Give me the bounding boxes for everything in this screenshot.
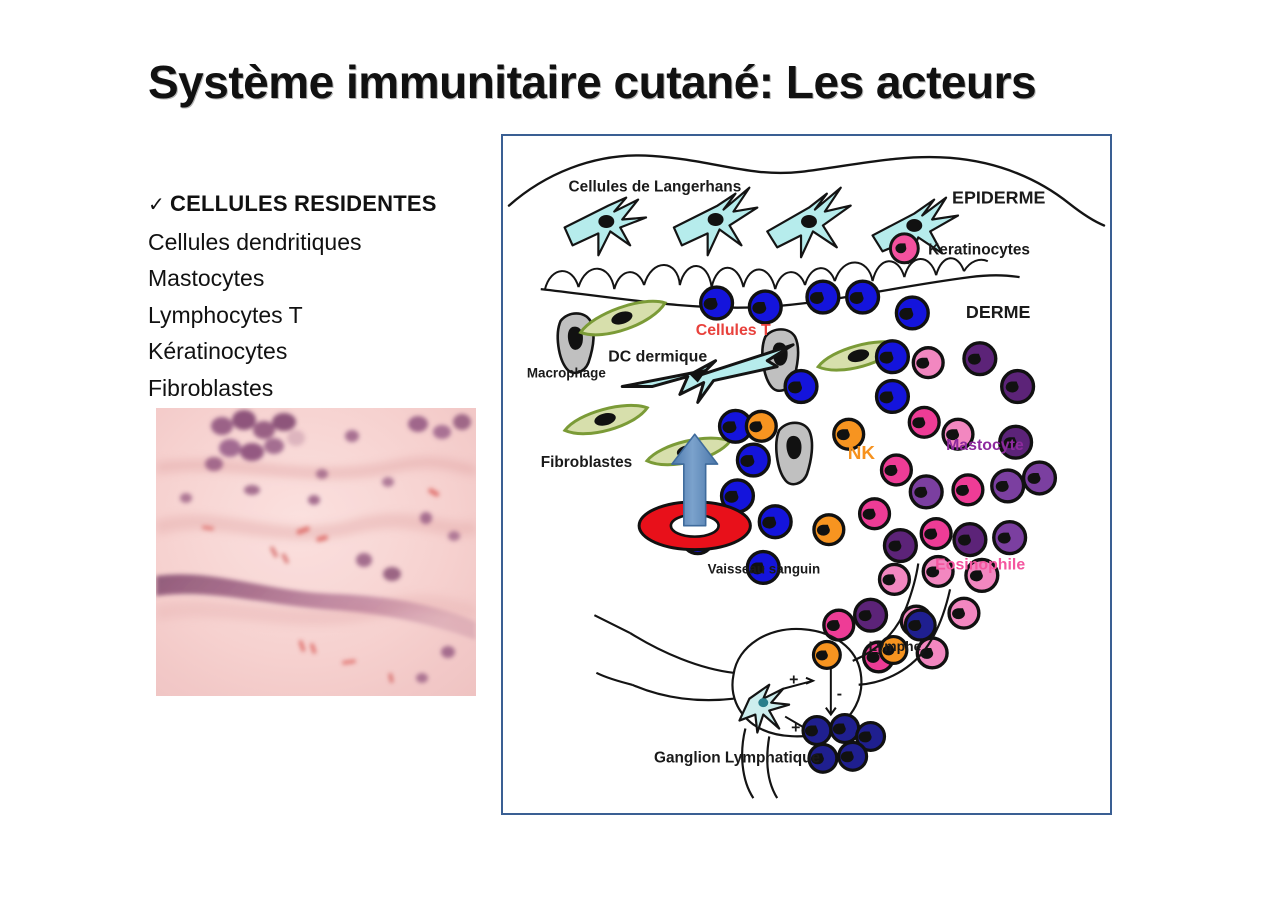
langerhans-cell [674,188,757,256]
mast-cell [992,470,1024,502]
macrophage-cell [776,423,812,484]
t-cell [847,281,879,313]
t-cell [737,444,769,476]
label-fibroblastes: Fibroblastes [541,454,632,471]
t-cell [905,610,935,640]
label-plus-sign: + [789,672,798,689]
list-item: Kératinocytes [148,333,488,370]
label-dc-dermique: DC dermique [608,349,707,366]
eosinophil-cell [909,407,939,437]
label-nk: NK [848,443,876,464]
node-dendritic-cell [739,685,789,733]
label-derme: DERME [966,302,1031,322]
nk-cell [814,515,844,545]
mast-cell [994,522,1026,554]
mast-cell [954,524,986,556]
list-item: Mastocytes [148,260,488,297]
fibroblast-cell [562,399,650,440]
fibroblast-cell [577,294,669,343]
t-cell [701,287,733,319]
langerhans-cell [565,198,646,256]
resident-cells-list: ✓CELLULES RESIDENTES Cellules dendritiqu… [148,186,488,406]
check-icon: ✓ [148,187,170,224]
list-item: Fibroblastes [148,370,488,407]
t-cell [877,341,909,373]
eosinophil-cell [880,564,910,594]
mast-cell [1024,462,1056,494]
list-item: Lymphocytes T [148,297,488,334]
mast-cell [1002,371,1034,403]
histology-micrograph [156,408,476,696]
mast-cell [964,343,996,375]
t-cell [759,506,791,538]
label-keratinocytes: Keratinocytes [928,241,1030,258]
eosinophil-cell [882,455,912,485]
histology-svg [156,408,476,696]
eosinophil-cell [913,348,943,378]
label-macrophage: Macrophage [527,366,606,381]
list-item: Cellules dendritiques [148,224,488,261]
t-cell [877,381,909,413]
diagram-canvas: Cellules de Langerhans EPIDERME Keratino… [503,136,1110,813]
label-epiderme: EPIDERME [952,188,1045,208]
label-eosinophile: Eosinophile [935,556,1025,573]
label-minus-sign: - [837,686,842,703]
langerhans-cell [767,188,850,258]
t-cell [896,297,928,329]
t-cell [785,371,817,403]
label-langerhans: Cellules de Langerhans [569,179,742,196]
mast-cell [910,476,942,508]
eosinophil-cell [949,598,979,628]
label-mastocyte: Mastocyte [946,437,1024,454]
mast-cell [884,530,916,562]
eosinophil-cell [860,499,890,529]
page-title: Système immunitaire cutané: Les acteurs [148,58,1128,106]
label-lymphe: Lymphe [869,638,922,654]
node-b-cell [813,642,840,669]
eosinophil-cell [953,475,983,505]
eosinophil-cell [921,519,951,549]
label-ganglion-lymphatique: Ganglion Lymphatique [654,749,821,766]
list-heading-label: CELLULES RESIDENTES [170,191,437,216]
label-plus-sign: + [791,719,800,736]
skin-immune-diagram: Cellules de Langerhans EPIDERME Keratino… [501,134,1112,815]
nk-cell [746,411,776,441]
label-cellules-t: Cellules T [696,322,771,339]
t-cell [807,281,839,313]
label-vaisseau-sanguin: Vaisseau sanguin [708,561,820,576]
t-cell [749,291,781,323]
list-heading: ✓CELLULES RESIDENTES [148,186,488,224]
mast-cell [855,599,887,631]
